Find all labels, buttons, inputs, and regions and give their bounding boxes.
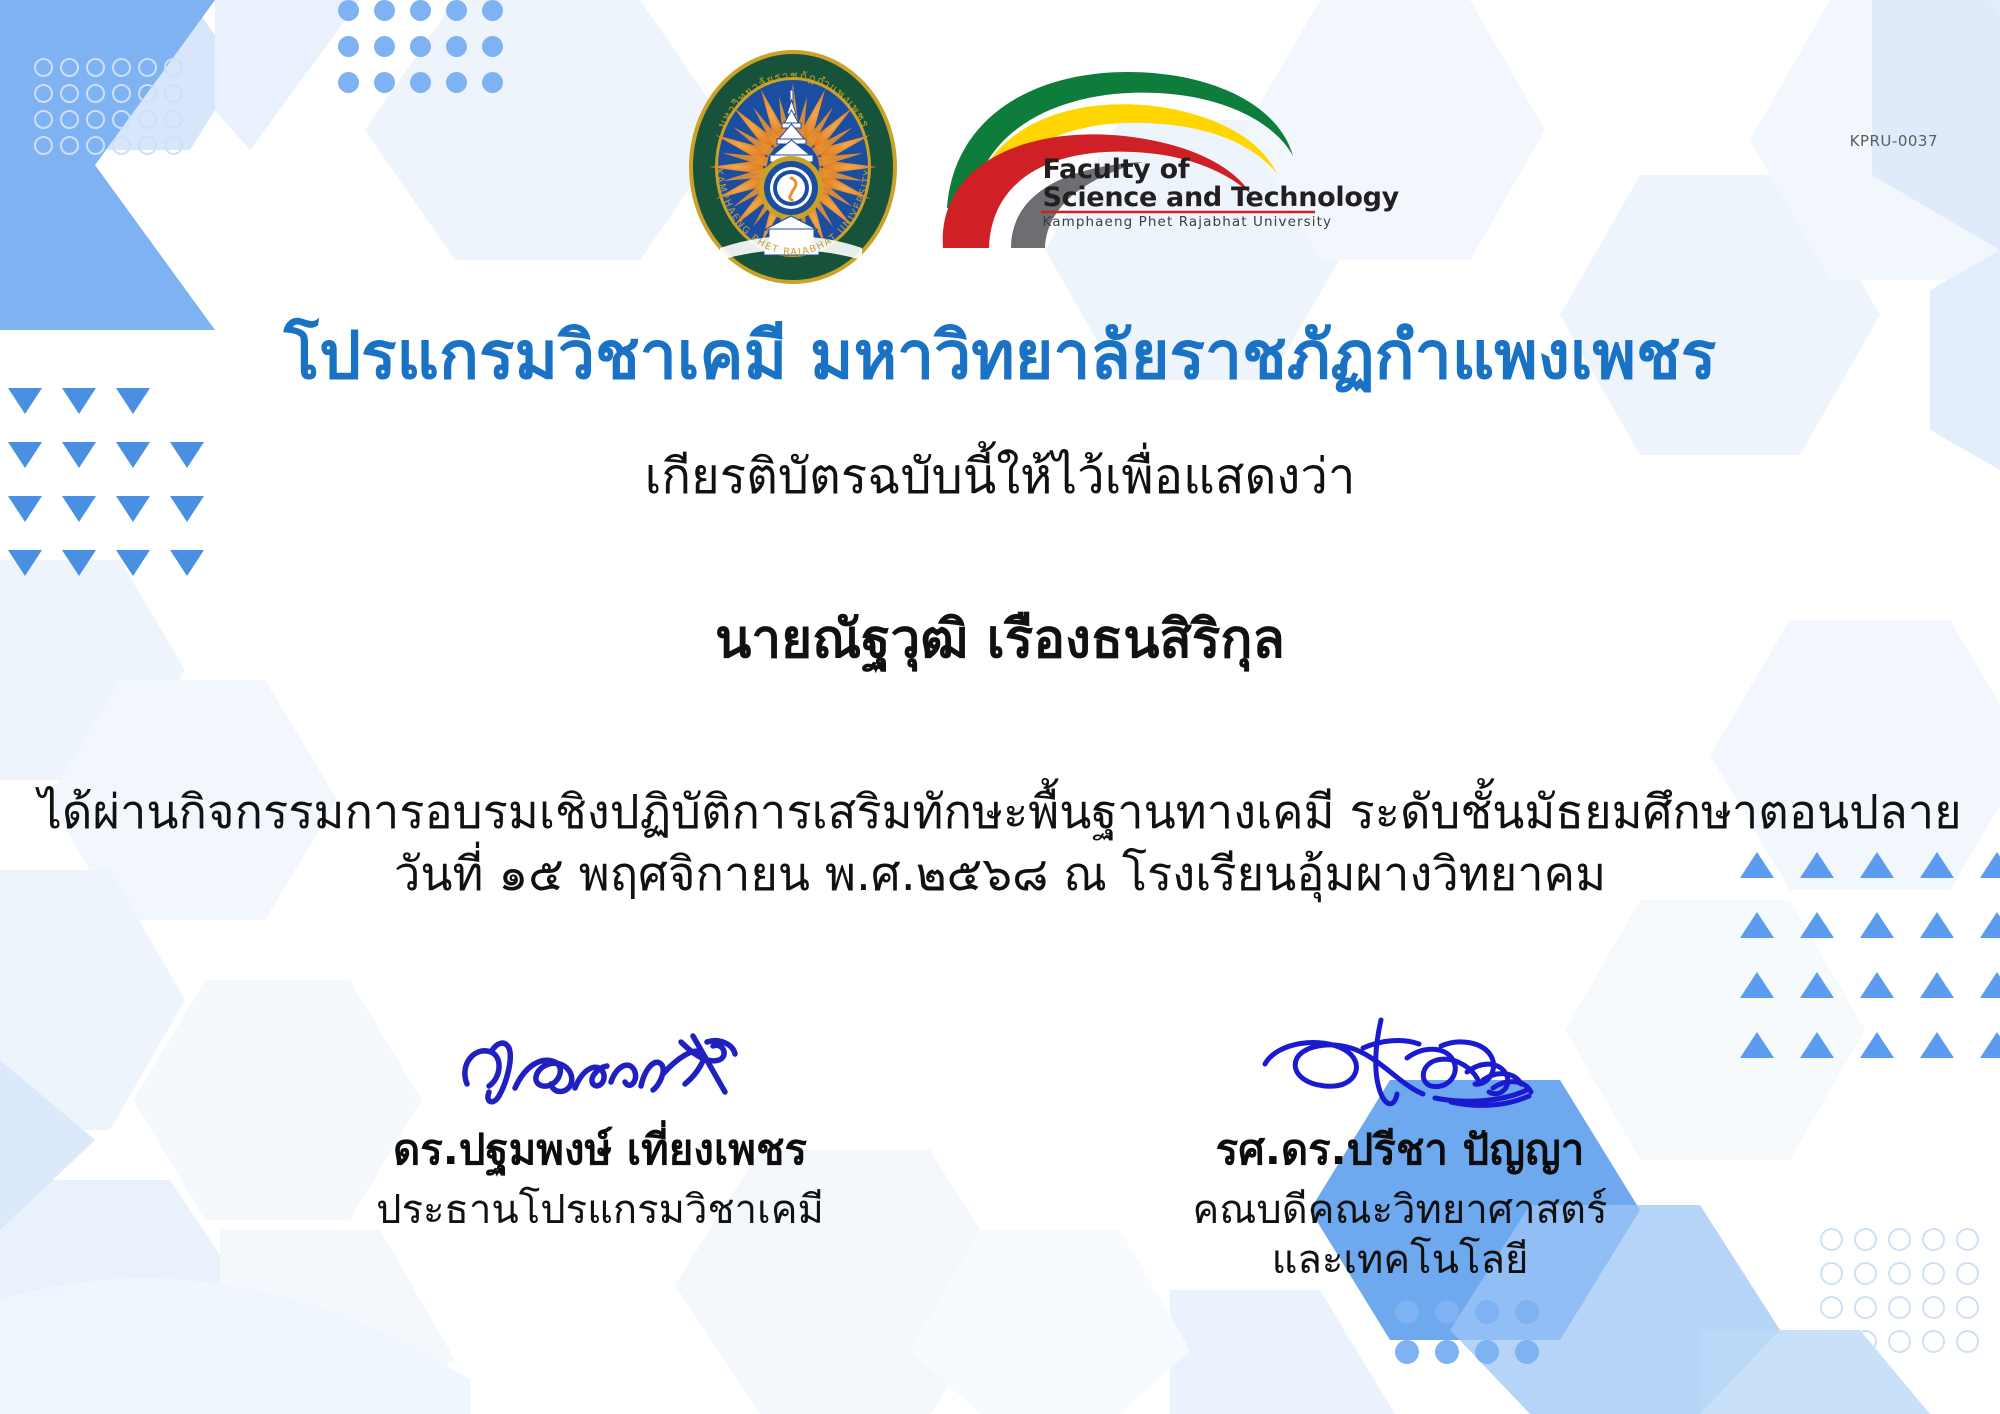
- page-title: โปรแกรมวิชาเคมี มหาวิทยาลัยราชภัฏกำแพงเพ…: [0, 318, 2000, 394]
- certificate-body: ได้ผ่านกิจกรรมการอบรมเชิงปฏิบัติการเสริม…: [0, 782, 2000, 906]
- signature-image-right: [1165, 1000, 1635, 1120]
- faculty-logo-text: Faculty of Science and Technology Kampha…: [1043, 156, 1399, 229]
- faculty-line2: Science and Technology: [1043, 184, 1399, 212]
- certificate-subtitle: เกียรติบัตรฉบับนี้ให้ไว้เพื่อแสดงว่า: [0, 448, 2000, 507]
- signer-name-left: ดร.ปฐมพงษ์ เที่ยงเพชร: [365, 1124, 835, 1177]
- faculty-line3: Kamphaeng Phet Rajabhat University: [1043, 216, 1399, 230]
- signer-role-right: คณบดีคณะวิทยาศาสตร์และเทคโนโลยี: [1165, 1185, 1635, 1285]
- certificate-page: KPRU-0037: [0, 0, 2000, 1414]
- faculty-line1: Faculty of: [1043, 156, 1399, 184]
- signature-block-left: ดร.ปฐมพงษ์ เที่ยงเพชร ประธานโปรแกรมวิชาเ…: [365, 1000, 835, 1285]
- signer-name-right: รศ.ดร.ปรีชา ปัญญา: [1165, 1124, 1635, 1177]
- signature-image-left: [365, 1000, 835, 1120]
- signature-row: ดร.ปฐมพงษ์ เที่ยงเพชร ประธานโปรแกรมวิชาเ…: [0, 1000, 2000, 1285]
- body-line-2: วันที่ ๑๕ พฤศจิกายน พ.ศ.๒๕๖๘ ณ โรงเรียนอ…: [0, 844, 2000, 906]
- signer-role-left: ประธานโปรแกรมวิชาเคมี: [365, 1185, 835, 1235]
- logo-row: มหาวิทยาลัยราชภัฏกำแพงเพชร KAMPHAENG PHE…: [0, 48, 2000, 285]
- body-line-1: ได้ผ่านกิจกรรมการอบรมเชิงปฏิบัติการเสริม…: [0, 782, 2000, 844]
- recipient-name: นายณัฐวุฒิ เรืองธนสิริกุล: [0, 608, 2000, 672]
- university-seal-icon: มหาวิทยาลัยราชภัฏกำแพงเพชร KAMPHAENG PHE…: [686, 48, 901, 285]
- faculty-logo-icon: Faculty of Science and Technology Kampha…: [915, 48, 1315, 248]
- signature-block-right: รศ.ดร.ปรีชา ปัญญา คณบดีคณะวิทยาศาสตร์และ…: [1165, 1000, 1635, 1285]
